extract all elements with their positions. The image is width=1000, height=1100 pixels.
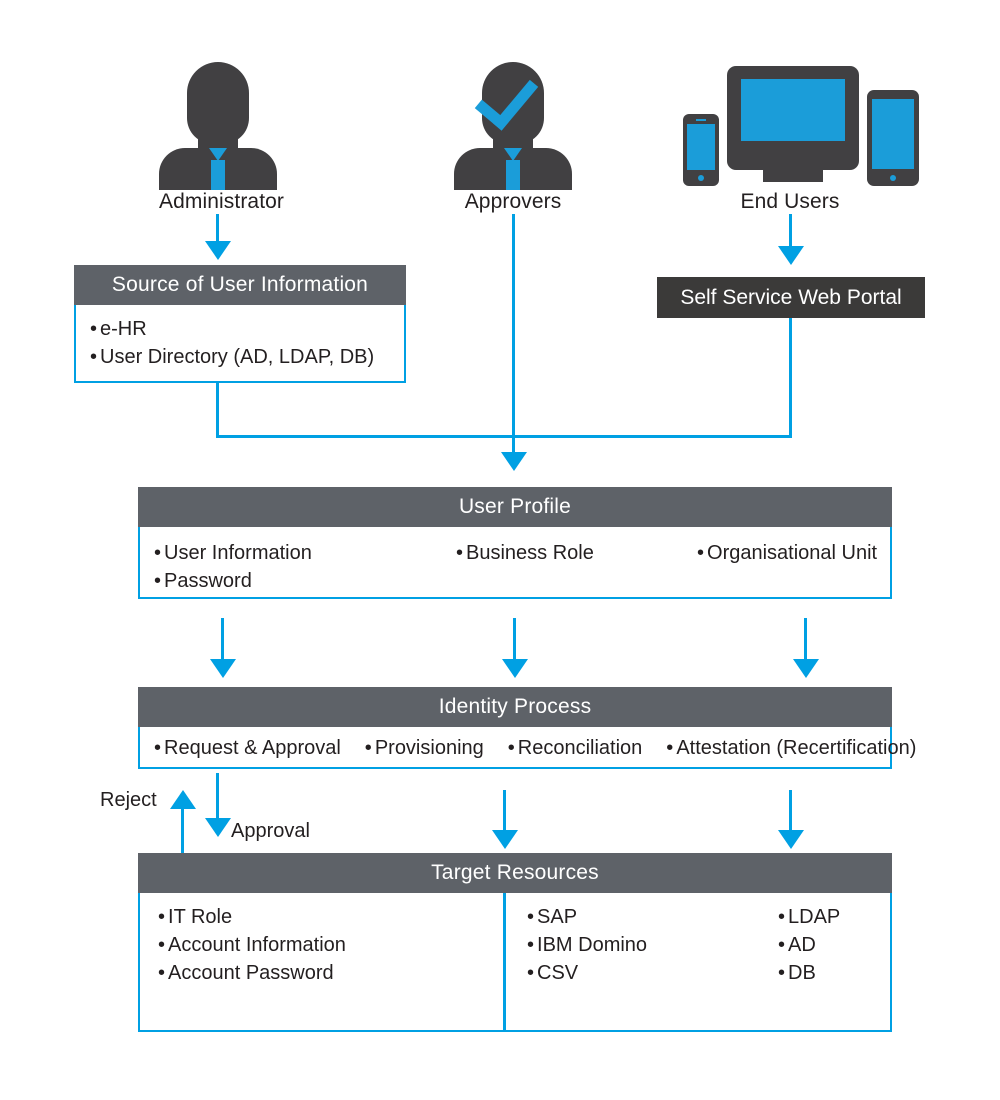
list-item: CSV — [527, 959, 647, 987]
identity-process-header: Identity Process — [138, 687, 892, 727]
list-item: DB — [778, 959, 840, 987]
target-resources-column-2: SAP IBM Domino CSV — [527, 903, 647, 987]
phone-speaker — [696, 119, 706, 121]
list-item: e-HR — [90, 315, 404, 343]
monitor-stand — [763, 166, 823, 182]
target-resources-column-1: IT Role Account Information Account Pass… — [158, 903, 346, 987]
connector-up-to-ip-3 — [804, 618, 807, 662]
tablet-icon — [867, 90, 919, 186]
list-item: Reconciliation — [508, 734, 643, 762]
target-resources-column-3: LDAP AD DB — [778, 903, 840, 987]
target-resources-body: IT Role Account Information Account Pass… — [138, 893, 892, 1032]
target-resources-divider — [503, 893, 506, 1032]
block-source-of-user-information: Source of User Information e-HR User Dir… — [74, 265, 406, 383]
tablet-screen — [872, 99, 914, 169]
list-item: User Directory (AD, LDAP, DB) — [90, 343, 404, 371]
block-target-resources: Target Resources IT Role Account Informa… — [138, 853, 892, 1032]
arrow-endusers-to-portal — [778, 246, 804, 265]
list-item: IBM Domino — [527, 931, 647, 959]
list-item: LDAP — [778, 903, 840, 931]
identity-process-body: Request & Approval Provisioning Reconcil… — [138, 727, 892, 769]
monitor-screen — [741, 79, 845, 141]
list-item: Account Password — [158, 959, 346, 987]
tie-body-icon — [211, 160, 225, 190]
connector-approvers-down — [512, 214, 515, 456]
identity-process-list: Request & Approval Provisioning Reconcil… — [154, 734, 916, 762]
diagram-canvas: Administrator Approvers — [0, 0, 1000, 1100]
list-item: Provisioning — [365, 734, 484, 762]
connector-ip-to-tr-2 — [789, 790, 792, 833]
actor-label-administrator: Administrator — [159, 190, 277, 214]
connector-endusers-to-portal — [789, 214, 792, 249]
arrow-reject-up — [170, 790, 196, 809]
phone-icon — [683, 114, 719, 186]
connector-ip-to-tr-1 — [503, 790, 506, 833]
label-reject: Reject — [100, 789, 157, 812]
person-with-tie-icon — [159, 62, 277, 190]
arrow-identity-to-target-1 — [492, 830, 518, 849]
connector-source-down — [216, 383, 219, 438]
user-profile-column-2: Business Role — [456, 539, 594, 567]
connector-up-to-ip-2 — [513, 618, 516, 662]
actor-administrator: Administrator — [159, 62, 277, 214]
arrow-user-profile-to-identity-1 — [210, 659, 236, 678]
list-item: User Information — [154, 539, 312, 567]
source-of-user-information-body: e-HR User Directory (AD, LDAP, DB) — [74, 305, 406, 383]
arrow-approval-down — [205, 818, 231, 837]
arrow-admin-to-source — [205, 241, 231, 260]
list-item: IT Role — [158, 903, 346, 931]
arrow-user-profile-to-identity-2 — [502, 659, 528, 678]
person-with-check-icon — [454, 62, 572, 190]
user-profile-column-3: Organisational Unit — [697, 539, 877, 567]
monitor-icon — [727, 66, 859, 170]
actor-label-approvers: Approvers — [454, 190, 572, 214]
label-approval: Approval — [231, 820, 310, 843]
arrow-bus-to-user-profile — [501, 452, 527, 471]
list-item: Organisational Unit — [697, 539, 877, 567]
list-item: AD — [778, 931, 840, 959]
target-resources-header: Target Resources — [138, 853, 892, 893]
actor-end-users: End Users — [665, 62, 915, 214]
actor-label-end-users: End Users — [665, 190, 915, 214]
user-profile-column-1: User Information Password — [154, 539, 312, 595]
source-of-user-information-header: Source of User Information — [74, 265, 406, 305]
source-of-user-information-list: e-HR User Directory (AD, LDAP, DB) — [90, 315, 404, 371]
user-profile-header: User Profile — [138, 487, 892, 527]
connector-bus-horizontal — [216, 435, 792, 438]
block-user-profile: User Profile User Information Password B… — [138, 487, 892, 599]
connector-up-to-ip-1 — [221, 618, 224, 662]
phone-home-button — [698, 175, 704, 181]
list-item: Request & Approval — [154, 734, 341, 762]
user-profile-body: User Information Password Business Role … — [138, 527, 892, 599]
arrow-user-profile-to-identity-3 — [793, 659, 819, 678]
list-item: Account Information — [158, 931, 346, 959]
connector-approval — [216, 773, 219, 820]
actor-approvers: Approvers — [454, 62, 572, 214]
list-item: Password — [154, 567, 312, 595]
connector-portal-down — [789, 318, 792, 438]
self-service-web-portal-box[interactable]: Self Service Web Portal — [657, 277, 925, 318]
connector-reject — [181, 808, 184, 855]
phone-screen — [687, 124, 715, 170]
tablet-home-button — [890, 175, 896, 181]
connector-admin-to-source — [216, 214, 219, 244]
arrow-identity-to-target-2 — [778, 830, 804, 849]
list-item: Attestation (Recertification) — [666, 734, 916, 762]
block-identity-process: Identity Process Request & Approval Prov… — [138, 687, 892, 769]
devices-phone-monitor-tablet-icon — [665, 62, 915, 190]
list-item: Business Role — [456, 539, 594, 567]
list-item: SAP — [527, 903, 647, 931]
tie-body-icon — [506, 160, 520, 190]
